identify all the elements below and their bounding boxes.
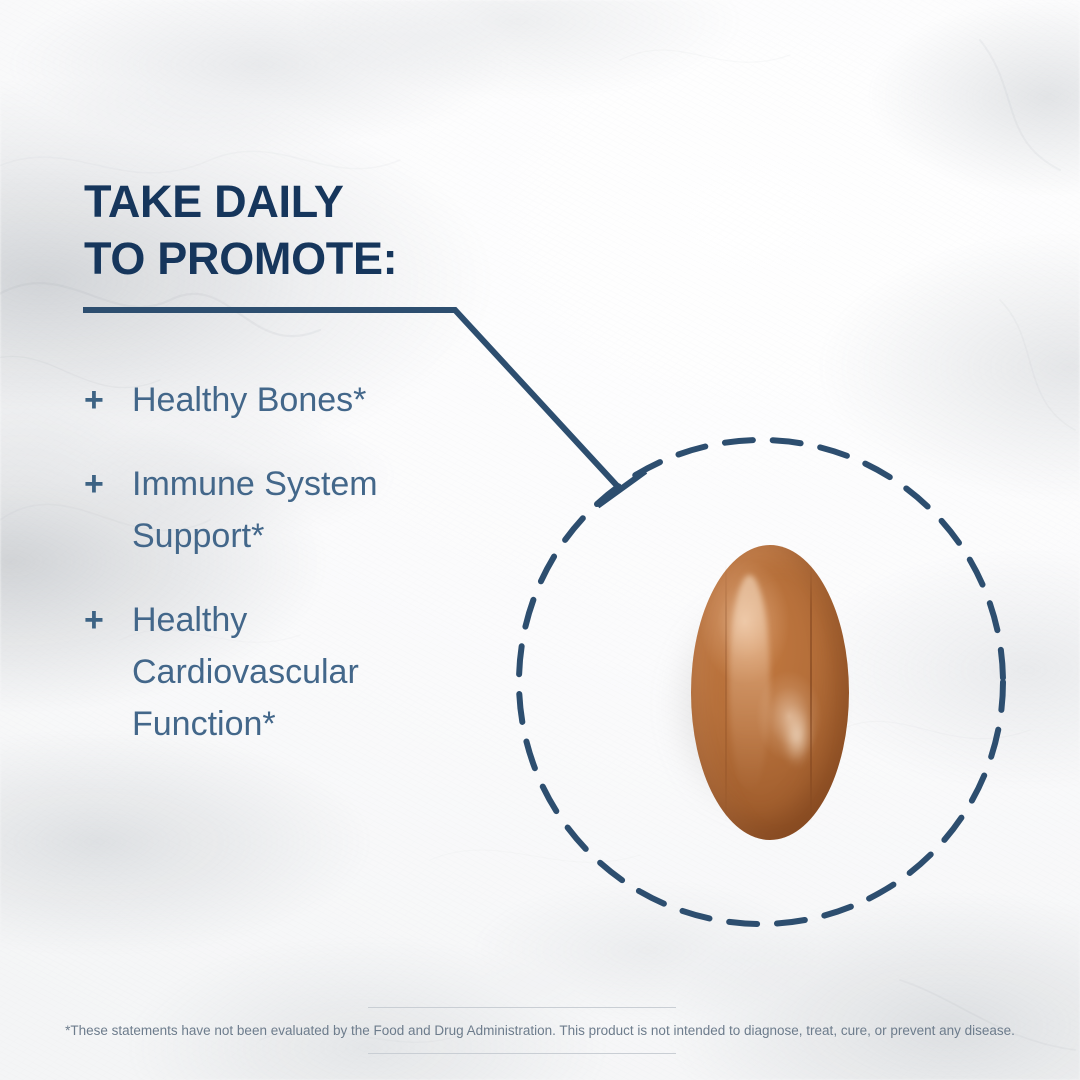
list-item: + Immune System Support* [84, 458, 504, 562]
plus-icon: + [84, 458, 132, 510]
divider-top [368, 1007, 676, 1008]
plus-icon: + [84, 594, 132, 646]
disclaimer-text: *These statements have not been evaluate… [0, 1022, 1080, 1040]
benefits-list: + Healthy Bones* + Immune System Support… [84, 374, 504, 750]
capsule-seam-left [725, 563, 727, 823]
divider-bottom [368, 1053, 676, 1054]
promotional-product-graphic: TAKE DAILY TO PROMOTE: + Healthy Bones* … [0, 0, 1080, 1080]
softgel-capsule [691, 545, 849, 840]
capsule-seam-right [810, 563, 812, 823]
capsule-highlight [729, 575, 770, 793]
benefit-label: Immune System Support* [132, 458, 378, 562]
plus-icon: + [84, 374, 132, 426]
benefit-label: Healthy Cardiovascular Function* [132, 594, 359, 750]
list-item: + Healthy Cardiovascular Function* [84, 594, 504, 750]
benefit-label: Healthy Bones* [132, 374, 366, 426]
list-item: + Healthy Bones* [84, 374, 504, 426]
